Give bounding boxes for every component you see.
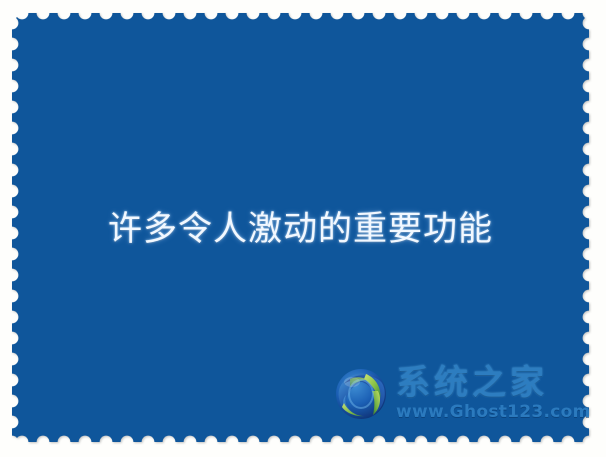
- watermark-text-block: 系统之家 www.Ghost123.com: [396, 361, 589, 426]
- slide-canvas: 许多令人激动的重要功能: [0, 0, 606, 457]
- watermark-logo: 系统之家 www.Ghost123.com: [332, 357, 580, 429]
- headline-block: 许多令人激动的重要功能: [12, 13, 589, 249]
- watermark-brand-name: 系统之家: [396, 364, 589, 402]
- slide-headline: 许多令人激动的重要功能: [108, 209, 493, 249]
- globe-logo-svg: [332, 365, 390, 423]
- globe-logo-icon: [332, 365, 390, 423]
- slide-content-layer: 许多令人激动的重要功能: [12, 13, 589, 442]
- watermark-url: www.Ghost123.com: [396, 403, 589, 422]
